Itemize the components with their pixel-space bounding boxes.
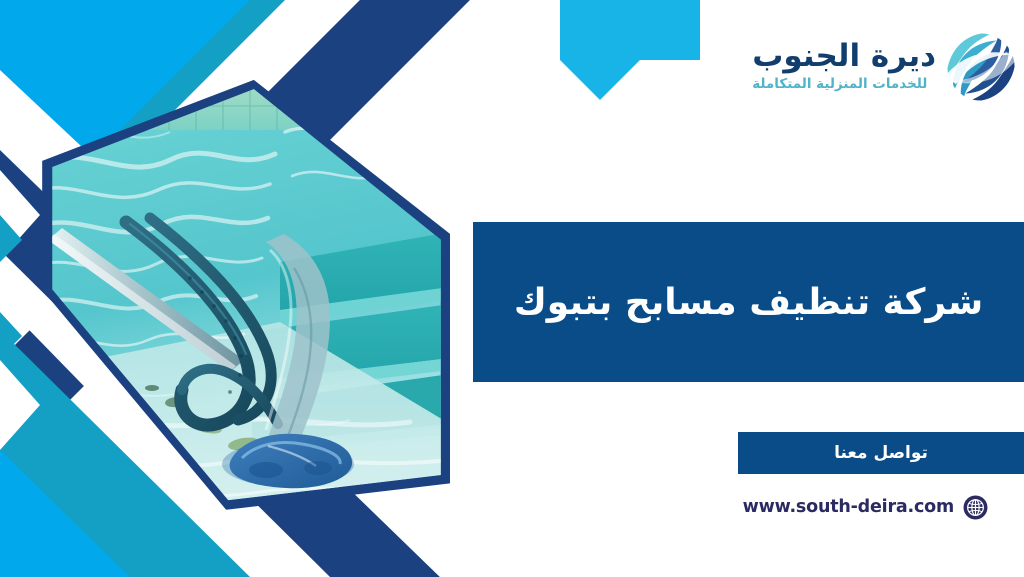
swirl-globe-icon [942,28,1020,106]
logo-title: ديرة الجنوب [752,40,936,73]
headline-banner: شركة تنظيف مسابح بتبوك [473,222,1024,382]
website-url-text: www.south-deira.com [743,497,954,517]
logo-text-group: ديرة الجنوب للخدمات المنزلية المتكاملة [752,40,936,93]
contact-us-button[interactable]: تواصل معنا [738,432,1024,474]
pool-photo [30,72,450,512]
brand-logo[interactable]: ديرة الجنوب للخدمات المنزلية المتكاملة [752,24,1020,110]
logo-subtitle: للخدمات المنزلية المتكاملة [752,76,927,94]
hero-image-frame [30,72,450,512]
website-link[interactable]: www.south-deira.com [738,490,988,524]
globe-icon [963,495,988,520]
contact-us-label: تواصل معنا [834,443,928,463]
promo-banner: شركة تنظيف مسابح بتبوك ديرة الجنوب للخدم… [0,0,1024,577]
page-title: شركة تنظيف مسابح بتبوك [496,280,1001,325]
